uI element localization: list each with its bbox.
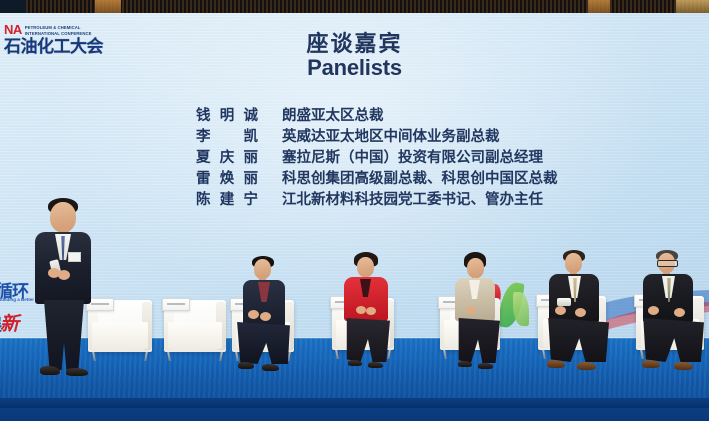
- backdrop-red-text: 新: [0, 309, 18, 336]
- armchair-empty-2: [164, 300, 226, 352]
- stage-edge: [0, 398, 709, 408]
- panelist-title: 塞拉尼斯（中国）投资有限公司副总经理: [282, 149, 543, 168]
- skirt-and-legs: [344, 318, 390, 362]
- trousers: [547, 318, 609, 362]
- list-item: 陈建宁 江北新材料科技园党工委书记、管办主任: [196, 191, 558, 210]
- chair-leg: [444, 350, 448, 359]
- panelist-seated-5: [640, 250, 709, 386]
- stage-apron: [0, 408, 709, 421]
- hand-left: [466, 306, 476, 314]
- hand-right: [58, 270, 70, 280]
- hand-left: [555, 306, 566, 315]
- name-card-text-line: [167, 303, 185, 305]
- moderator-standing: [22, 196, 104, 382]
- panelist-seated-3: [452, 252, 510, 384]
- page-title-english: Panelists: [0, 55, 709, 81]
- ceiling-light-a-icon: [95, 0, 121, 13]
- hand-left: [356, 306, 366, 314]
- panelist-seated-2: [340, 252, 402, 384]
- shoe-left: [40, 366, 60, 375]
- list-item: 雷焕丽 科思创集团高级副总裁、科思创中国区总裁: [196, 170, 558, 189]
- shoe-right: [66, 368, 88, 376]
- hand-left: [648, 306, 659, 315]
- shoe-left: [348, 360, 362, 366]
- shoe-right: [674, 362, 693, 370]
- chair-leg: [336, 350, 340, 359]
- panelist-name: 夏庆丽: [196, 149, 258, 168]
- trousers: [456, 318, 500, 363]
- hand-right: [260, 312, 271, 321]
- trousers: [236, 322, 290, 364]
- panelist-name: 李 凯: [196, 128, 258, 147]
- list-item: 钱明诚 朗盛亚太区总裁: [196, 107, 558, 126]
- ceiling-light-c-icon: [676, 0, 709, 13]
- ceiling-dark-panel: [0, 0, 26, 13]
- leaf-secondary-icon: [513, 292, 529, 326]
- handheld-microphone-icon: [557, 298, 571, 306]
- shoe-left: [547, 360, 565, 368]
- shoe-left: [458, 361, 472, 367]
- head: [565, 253, 582, 273]
- panelist-title: 江北新材料科技园党工委书记、管办主任: [282, 191, 543, 210]
- ceiling-light-b-icon: [588, 0, 610, 13]
- hand-right: [674, 308, 685, 317]
- list-item: 夏庆丽 塞拉尼斯（中国）投资有限公司副总经理: [196, 149, 558, 168]
- panelist-name: 钱明诚: [196, 107, 258, 126]
- shoe-left: [642, 360, 660, 368]
- panelist-name: 雷焕丽: [196, 170, 258, 189]
- glasses-icon: [657, 260, 678, 267]
- shoe-right: [577, 362, 596, 370]
- panelist-title: 朗盛亚太区总裁: [282, 107, 384, 126]
- panelist-seated-4: [545, 250, 617, 386]
- panelist-list: 钱明诚 朗盛亚太区总裁 李 凯 英威达亚太地区中间体业务副总裁 夏庆丽 塞拉尼斯…: [196, 107, 558, 210]
- chair-seat: [168, 322, 221, 349]
- panelist-seated-1: [236, 256, 298, 382]
- hand-left: [248, 310, 259, 319]
- name-badge: [68, 252, 81, 262]
- hand-right: [366, 307, 376, 315]
- head: [467, 258, 484, 278]
- trousers: [642, 318, 704, 362]
- chair-leg: [168, 352, 172, 361]
- head: [357, 257, 374, 277]
- chair-leg: [145, 352, 149, 361]
- shoe-right: [478, 363, 493, 369]
- panelist-name: 陈建宁: [196, 191, 258, 210]
- trousers: [44, 300, 84, 370]
- list-item: 李 凯 英威达亚太地区中间体业务副总裁: [196, 128, 558, 147]
- shoe-right: [368, 362, 383, 368]
- chair-leg: [219, 352, 223, 361]
- panelist-title: 科思创集团高级副总裁、科思创中国区总裁: [282, 170, 558, 189]
- name-card: [162, 298, 190, 311]
- panelist-title: 英威达亚太地区中间体业务副总裁: [282, 128, 500, 147]
- hand-right: [575, 308, 586, 317]
- page-title-chinese: 座谈嘉宾: [0, 26, 709, 58]
- shoe-left: [238, 362, 254, 369]
- chair-legs: [166, 352, 223, 361]
- head: [254, 259, 271, 279]
- conference-stage-photo: NA PETROLEUM & CHEMICAL INTERNATIONAL CO…: [0, 0, 709, 421]
- shoe-right: [262, 364, 279, 371]
